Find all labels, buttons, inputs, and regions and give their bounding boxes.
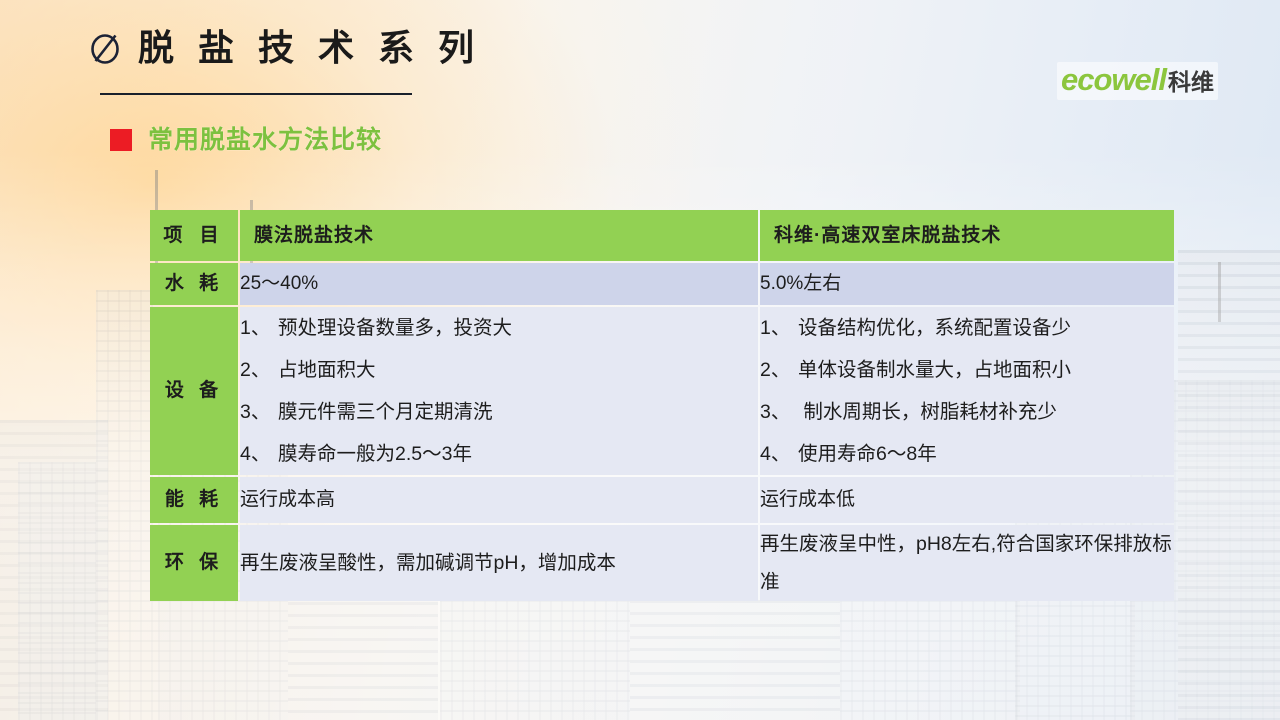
slash-circle-icon: [88, 30, 124, 66]
cell-equipment-membrane: 1、预处理设备数量多，投资大 2、占地面积大 3、膜元件需三个月定期清洗 4、膜…: [240, 307, 758, 475]
square-bullet-icon: [110, 129, 132, 151]
cell-environment-membrane: 再生废液呈酸性，需加碱调节pH，增加成本: [240, 525, 758, 601]
title-divider: [100, 93, 412, 95]
list-item-label: 膜寿命一般为2.5～3年: [278, 443, 472, 465]
brand-logo: ecowell 科维: [1057, 62, 1218, 100]
list-item-label: 制水周期长，树脂耗材补充少: [798, 401, 1057, 423]
row-label-water: 水 耗: [150, 263, 238, 305]
list-item-number: 2、: [240, 349, 278, 391]
equipment-ecowell-list: 1、设备结构优化，系统配置设备少 2、单体设备制水量大，占地面积小 3、 制水周…: [760, 307, 1174, 475]
brand-logo-chinese: 科维: [1168, 66, 1214, 98]
list-item-number: 4、: [760, 433, 798, 475]
list-item: 3、 制水周期长，树脂耗材补充少: [760, 391, 1174, 433]
table-header-membrane: 膜法脱盐技术: [240, 210, 758, 261]
list-item-number: 1、: [240, 307, 278, 349]
list-item: 4、膜寿命一般为2.5～3年: [240, 433, 758, 475]
list-item: 2、单体设备制水量大，占地面积小: [760, 349, 1174, 391]
cell-water-membrane: 25～40%: [240, 263, 758, 305]
list-item: 3、膜元件需三个月定期清洗: [240, 391, 758, 433]
list-item-label: 预处理设备数量多，投资大: [278, 317, 512, 339]
list-item-label: 占地面积大: [278, 359, 376, 381]
section-heading-label: 常用脱盐水方法比较: [148, 126, 382, 154]
row-label-equipment: 设 备: [150, 307, 238, 475]
list-item-number: 2、: [760, 349, 798, 391]
table-header-item: 项 目: [150, 210, 238, 261]
list-item-number: 3、: [240, 391, 278, 433]
table-row: 环 保 再生废液呈酸性，需加碱调节pH，增加成本 再生废液呈中性，pH8左右,符…: [150, 525, 1174, 601]
list-item: 4、使用寿命6～8年: [760, 433, 1174, 475]
table-header-ecowell: 科维·高速双室床脱盐技术: [760, 210, 1174, 261]
section-heading: 常用脱盐水方法比较: [110, 126, 382, 154]
list-item-number: 4、: [240, 433, 278, 475]
slide-canvas: 脱 盐 技 术 系 列 ecowell 科维 常用脱盐水方法比较 项 目 膜法脱…: [0, 0, 1280, 720]
list-item-label: 使用寿命6～8年: [798, 443, 937, 465]
brand-logo-latin: ecowell: [1061, 64, 1166, 96]
cell-environment-ecowell: 再生废液呈中性，pH8左右,符合国家环保排放标准: [760, 525, 1174, 601]
cell-environment-ecowell-text: 再生废液呈中性，pH8左右,符合国家环保排放标准: [760, 525, 1174, 601]
table-header-row: 项 目 膜法脱盐技术 科维·高速双室床脱盐技术: [150, 210, 1174, 261]
comparison-table: 项 目 膜法脱盐技术 科维·高速双室床脱盐技术 水 耗 25～40% 5.0%左…: [148, 208, 1176, 603]
list-item-label: 设备结构优化，系统配置设备少: [798, 317, 1071, 339]
cell-energy-ecowell: 运行成本低: [760, 477, 1174, 523]
list-item-number: 1、: [760, 307, 798, 349]
table-row: 能 耗 运行成本高 运行成本低: [150, 477, 1174, 523]
cell-water-ecowell: 5.0%左右: [760, 263, 1174, 305]
list-item: 1、预处理设备数量多，投资大: [240, 307, 758, 349]
list-item-number: 3、: [760, 391, 798, 433]
list-item: 2、占地面积大: [240, 349, 758, 391]
cell-environment-membrane-text: 再生废液呈酸性，需加碱调节pH，增加成本: [240, 544, 758, 582]
list-item: 1、设备结构优化，系统配置设备少: [760, 307, 1174, 349]
table-row: 设 备 1、预处理设备数量多，投资大 2、占地面积大 3、膜元件需三个月定期清洗…: [150, 307, 1174, 475]
deck-title-row: 脱 盐 技 术 系 列: [88, 28, 481, 68]
page-title: 脱 盐 技 术 系 列: [138, 28, 481, 68]
row-label-environment: 环 保: [150, 525, 238, 601]
cell-equipment-ecowell: 1、设备结构优化，系统配置设备少 2、单体设备制水量大，占地面积小 3、 制水周…: [760, 307, 1174, 475]
equipment-membrane-list: 1、预处理设备数量多，投资大 2、占地面积大 3、膜元件需三个月定期清洗 4、膜…: [240, 307, 758, 475]
cell-energy-membrane: 运行成本高: [240, 477, 758, 523]
table-row: 水 耗 25～40% 5.0%左右: [150, 263, 1174, 305]
list-item-label: 膜元件需三个月定期清洗: [278, 401, 493, 423]
list-item-label: 单体设备制水量大，占地面积小: [798, 359, 1071, 381]
row-label-energy: 能 耗: [150, 477, 238, 523]
